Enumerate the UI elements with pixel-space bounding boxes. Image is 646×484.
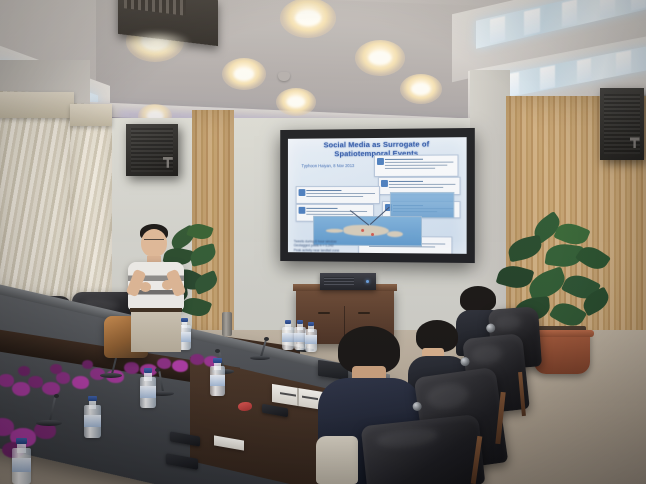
curtain-pelmet-right (70, 104, 112, 126)
ceiling-downlight (276, 88, 316, 116)
plant-pot (534, 330, 590, 374)
water-bottle[interactable] (84, 396, 101, 438)
conference-room-photo: Social Media as Surrogate of Spatiotempo… (0, 0, 646, 484)
power-led-icon (366, 280, 369, 283)
wall-speaker-left (126, 124, 178, 176)
table-microphone[interactable] (250, 336, 270, 360)
presenter-trousers (131, 312, 181, 352)
attendee-1-leg (316, 436, 358, 484)
av-amplifier-unit (320, 273, 376, 290)
credenza-handle (358, 312, 370, 314)
eyeglasses-icon (144, 239, 164, 244)
slide-tweet-card (374, 154, 458, 177)
projector-lens-glow (122, 30, 192, 56)
water-bottle[interactable] (140, 368, 156, 408)
ceiling-downlight (222, 58, 266, 90)
curtain-pelmet-left (0, 92, 74, 118)
presentation-slide: Social Media as Surrogate of Spatiotempo… (288, 137, 467, 254)
presenter (122, 224, 192, 348)
presenter-hand-right (162, 280, 173, 290)
slide-footnotes: Tweets during 6 hour window Geotagged po… (294, 239, 340, 252)
ceiling-downlight (355, 40, 405, 76)
ceiling-downlight (400, 74, 442, 104)
thermos-flask[interactable] (222, 312, 232, 336)
water-bottle[interactable] (12, 438, 31, 484)
chair-right-4[interactable] (361, 414, 486, 484)
presenter-hand-left (140, 282, 151, 292)
red-pouch[interactable] (238, 402, 252, 411)
credenza-handle (318, 312, 330, 314)
attendee-3-hair (460, 286, 496, 312)
smoke-detector (278, 72, 290, 81)
slide-map-inset (390, 192, 454, 218)
table-microphone[interactable] (36, 392, 62, 426)
slide-tweet-card (296, 186, 380, 204)
water-bottle[interactable] (282, 320, 294, 350)
slide-date-label: Typhoon Haiyan, 8 Nov 2013 (301, 163, 354, 168)
curtain-right (70, 103, 112, 319)
wall-speaker-right (600, 88, 644, 160)
slide-footnote-3: Peak activity near landfall zone (294, 248, 340, 253)
projection-screen: Social Media as Surrogate of Spatiotempo… (280, 128, 475, 263)
water-bottle[interactable] (210, 358, 225, 396)
amplifier-vent (324, 277, 354, 285)
speaker-grille (131, 128, 173, 172)
